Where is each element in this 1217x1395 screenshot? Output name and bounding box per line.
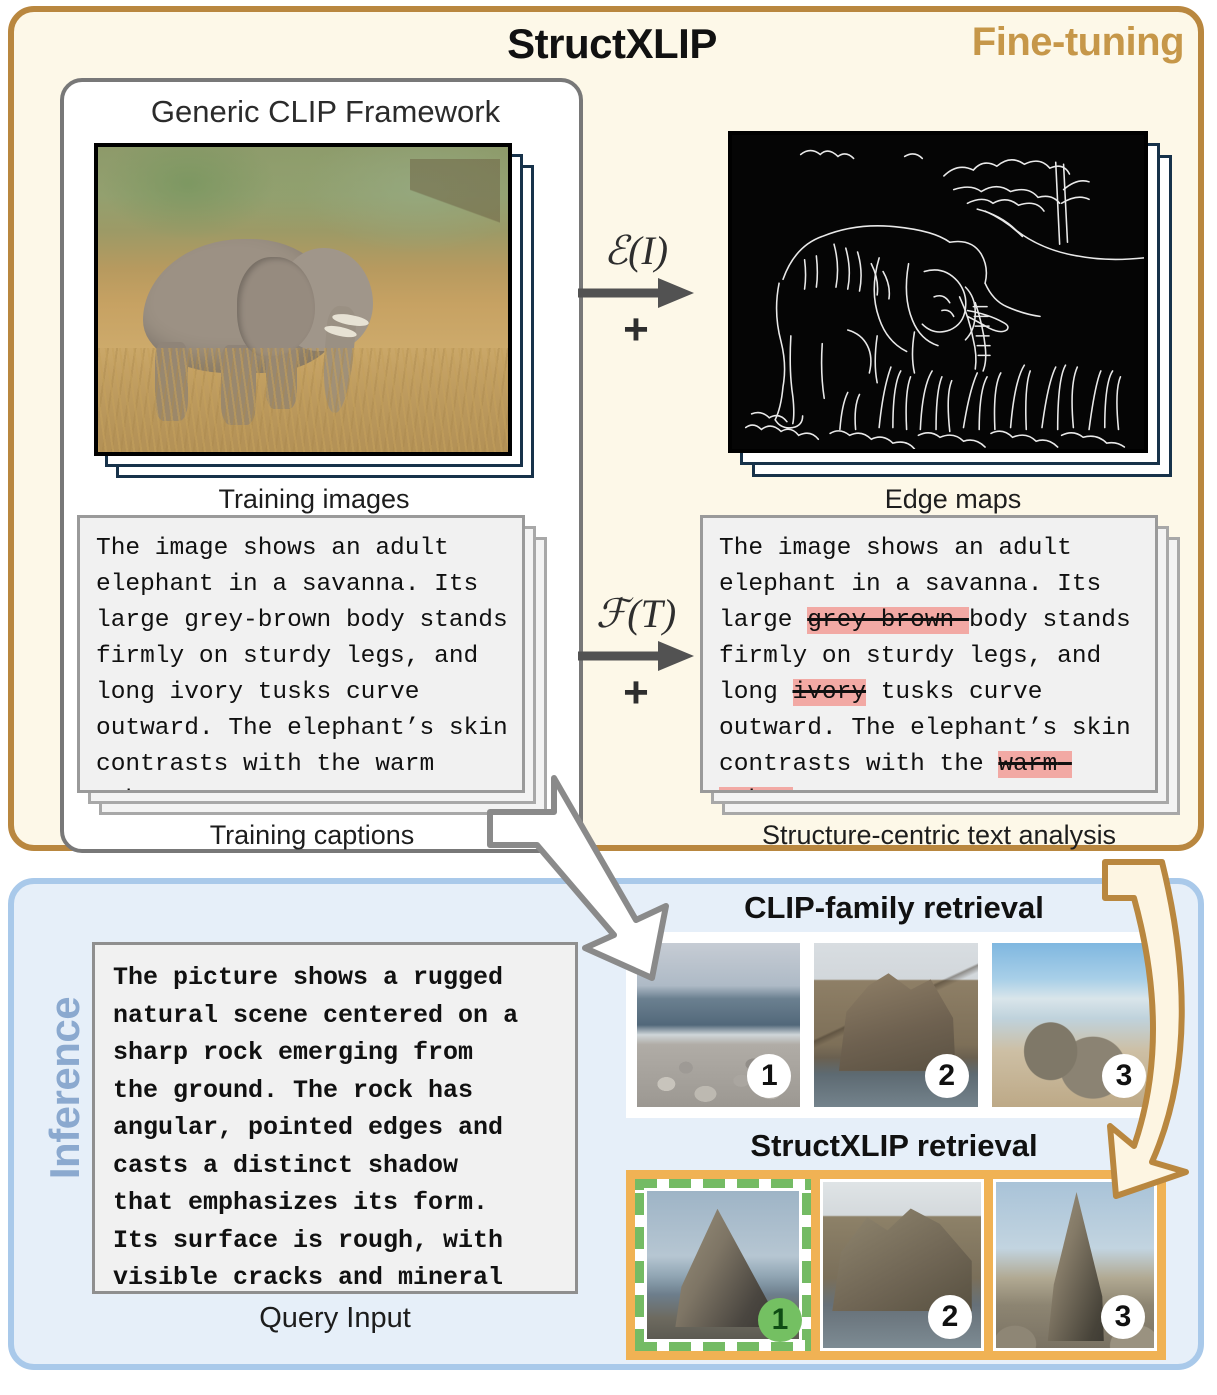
retrieval-result-1[interactable]: 1 — [635, 1179, 811, 1351]
image-encoder-operator: ℰ(I) + — [566, 227, 706, 350]
retrieval-result-3[interactable]: 3 — [989, 940, 1158, 1110]
structure-centric-text: The image shows an adult elephant in a s… — [700, 515, 1158, 793]
struck-attribute-word: grey-brown — [807, 607, 969, 634]
text-operator-plus: + — [566, 673, 706, 713]
text-encoder-operator: ℱ(T) + — [566, 590, 706, 713]
structxlip-retrieval-results: 1 2 3 — [626, 1170, 1166, 1360]
training-images-caption: Training images — [94, 484, 534, 515]
edge-contours — [732, 135, 1144, 449]
retrieval-result-1[interactable]: 1 — [634, 940, 803, 1110]
framework-box-title: Generic CLIP Framework — [64, 94, 587, 130]
stage-label-finetuning: Fine-tuning — [972, 20, 1184, 65]
text-operator-symbol: ℱ(T) — [566, 590, 706, 637]
edge-maps-caption: Edge maps — [728, 484, 1178, 515]
edge-map-front — [728, 131, 1148, 453]
stage-label-inference: Inference — [41, 973, 89, 1203]
query-input-text: The picture shows a rugged natural scene… — [92, 942, 578, 1294]
training-images-stack — [94, 143, 534, 478]
elephant-photo — [98, 147, 508, 452]
clip-retrieval-title: CLIP-family retrieval — [624, 890, 1164, 926]
edge-maps-stack — [728, 131, 1178, 481]
struck-attribute-word: ivory — [793, 679, 867, 706]
image-operator-plus: + — [566, 310, 706, 350]
query-input-caption: Query Input — [92, 1302, 578, 1335]
savanna-grass — [98, 348, 508, 452]
rank-badge: 1 — [747, 1054, 791, 1098]
rank-badge: 3 — [1101, 1295, 1145, 1339]
structure-text-caption: Structure-centric text analysis — [674, 820, 1204, 851]
retrieval-result-2[interactable]: 2 — [820, 1179, 984, 1351]
structure-text-stack: The image shows an adult elephant in a s… — [700, 515, 1180, 815]
training-captions-stack: The image shows an adult elephant in a s… — [77, 515, 547, 815]
training-image-front — [94, 143, 512, 456]
retrieval-result-2[interactable]: 2 — [811, 940, 980, 1110]
image-operator-symbol: ℰ(I) — [566, 227, 706, 274]
training-captions-caption: Training captions — [77, 820, 547, 851]
figure-root: StructXLIP Fine-tuning Generic CLIP Fram… — [0, 0, 1217, 1395]
inference-panel: Inference The picture shows a rugged nat… — [8, 878, 1204, 1370]
structxlip-retrieval-title: StructXLIP retrieval — [624, 1128, 1164, 1164]
training-caption-text: The image shows an adult elephant in a s… — [77, 515, 525, 793]
edge-map-image — [732, 135, 1144, 449]
rank-badge: 2 — [928, 1295, 972, 1339]
finetuning-panel: StructXLIP Fine-tuning Generic CLIP Fram… — [8, 6, 1204, 851]
rank-badge: 3 — [1102, 1054, 1146, 1098]
tree-shape — [410, 159, 500, 263]
retrieval-result-3[interactable]: 3 — [993, 1179, 1157, 1351]
rank-badge: 2 — [925, 1054, 969, 1098]
rank-badge-top-match: 1 — [758, 1298, 802, 1342]
clip-retrieval-results: 1 2 3 — [626, 932, 1166, 1118]
